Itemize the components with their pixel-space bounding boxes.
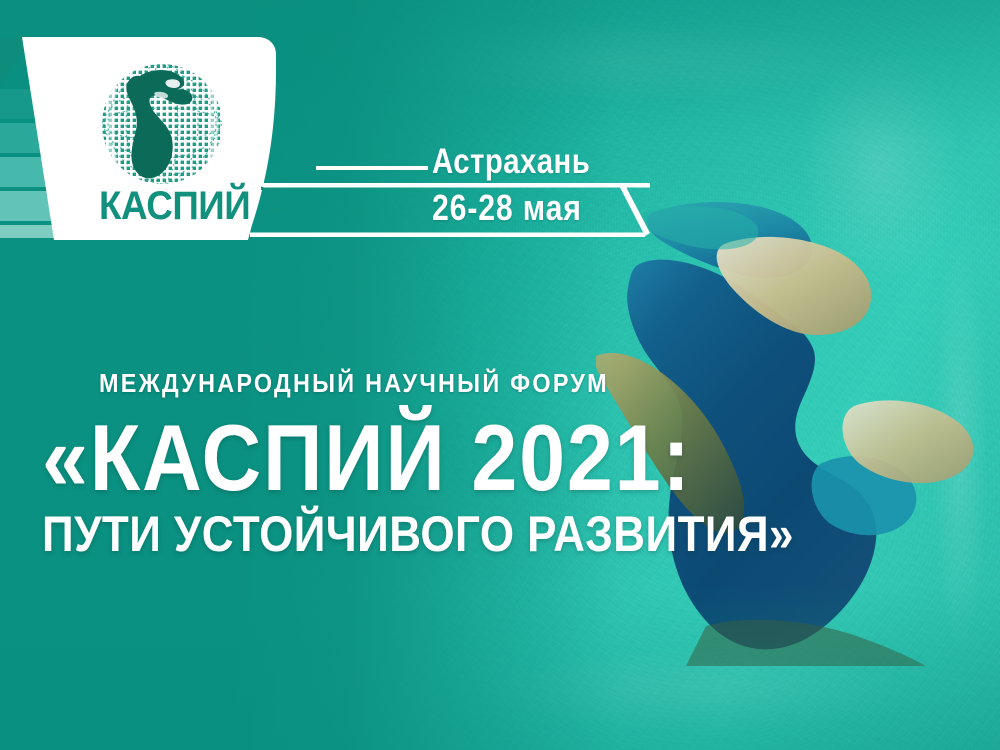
headline-line-1: «КАСПИЙ 2021: — [42, 412, 658, 504]
event-city: Астрахань — [432, 144, 590, 179]
logo-wordmark-text: КАСПИЙ — [99, 186, 250, 226]
poster-root: КАСПИЙ 2021 Астрахань 26-28 мая МЕЖДУНАР… — [0, 0, 1000, 750]
headline-block: МЕЖДУНАРОДНЫЙ НАУЧНЫЙ ФОРУМ «КАСПИЙ 2021… — [0, 368, 700, 562]
headline-line-2: ПУТИ УСТОЙЧИВОГО РАЗВИТИЯ» — [42, 506, 658, 562]
background-bottom-fade — [0, 585, 1000, 750]
event-dates: 26-28 мая — [432, 190, 582, 226]
decor-top-rule — [316, 166, 428, 170]
headline-kicker: МЕЖДУНАРОДНЫЙ НАУЧНЫЙ ФОРУМ — [43, 368, 666, 398]
dotted-globe-icon — [96, 58, 228, 190]
